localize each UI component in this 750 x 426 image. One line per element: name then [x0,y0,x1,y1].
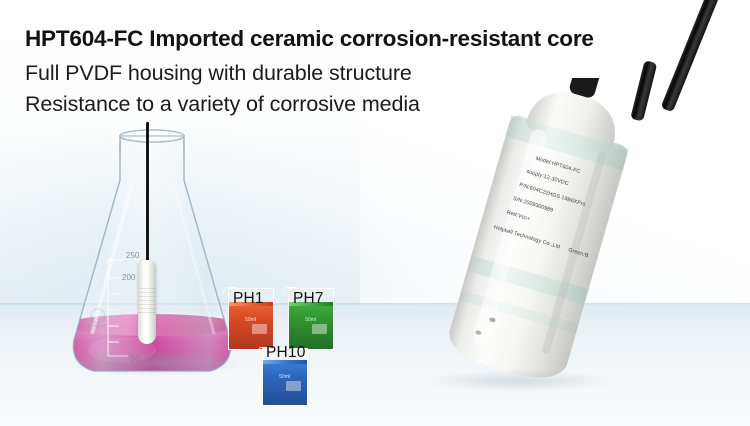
headline-line-1: HPT604-FC Imported ceramic corrosion-res… [25,24,685,54]
flask-probe-rod [146,122,149,264]
product-banner: HPT604-FC Imported ceramic corrosion-res… [0,0,750,426]
sensor-label-supply: supply:12-30VDC [526,169,570,188]
flask-graduation-200: 200 [122,273,136,282]
headline-line-2: Full PVDF housing with durable structure [25,58,685,89]
beaker-ph1-window [252,324,267,334]
sensor-label-sn: S/N:2009300989 [512,196,554,214]
sensor-label-red-vcc: Red:Vcc+ [506,210,531,223]
erlenmeyer-flask: 250 200 50 [62,128,242,380]
beaker-ph10-graduation: 50ml [279,375,290,380]
flask-shadow [66,350,242,376]
sensor-shadow [424,370,614,392]
sensor-label-company: Holykell Technology Co.,Ltd [493,224,561,250]
flask-graduation-250: 250 [126,251,140,260]
sensor-label-green: Green:B [567,247,589,259]
beaker-ph1-graduation: 50ml [245,318,256,323]
flask-probe-tip-band [138,288,156,314]
beaker-ph10-window [286,381,301,391]
beaker-ph7-window [312,324,327,334]
headline-block: HPT604-FC Imported ceramic corrosion-res… [25,24,685,120]
beaker-ph10-label: PH10 [266,344,306,362]
beaker-ph1-label: PH1 [233,290,264,308]
headline-line-3: Resistance to a variety of corrosive med… [25,89,685,120]
beaker-ph7-graduation: 50ml [305,318,316,323]
sensor-assembly: Model:HPT604-FC supply:12-30VDC P/N:604C… [414,78,664,408]
beaker-ph7-label: PH7 [293,290,324,308]
